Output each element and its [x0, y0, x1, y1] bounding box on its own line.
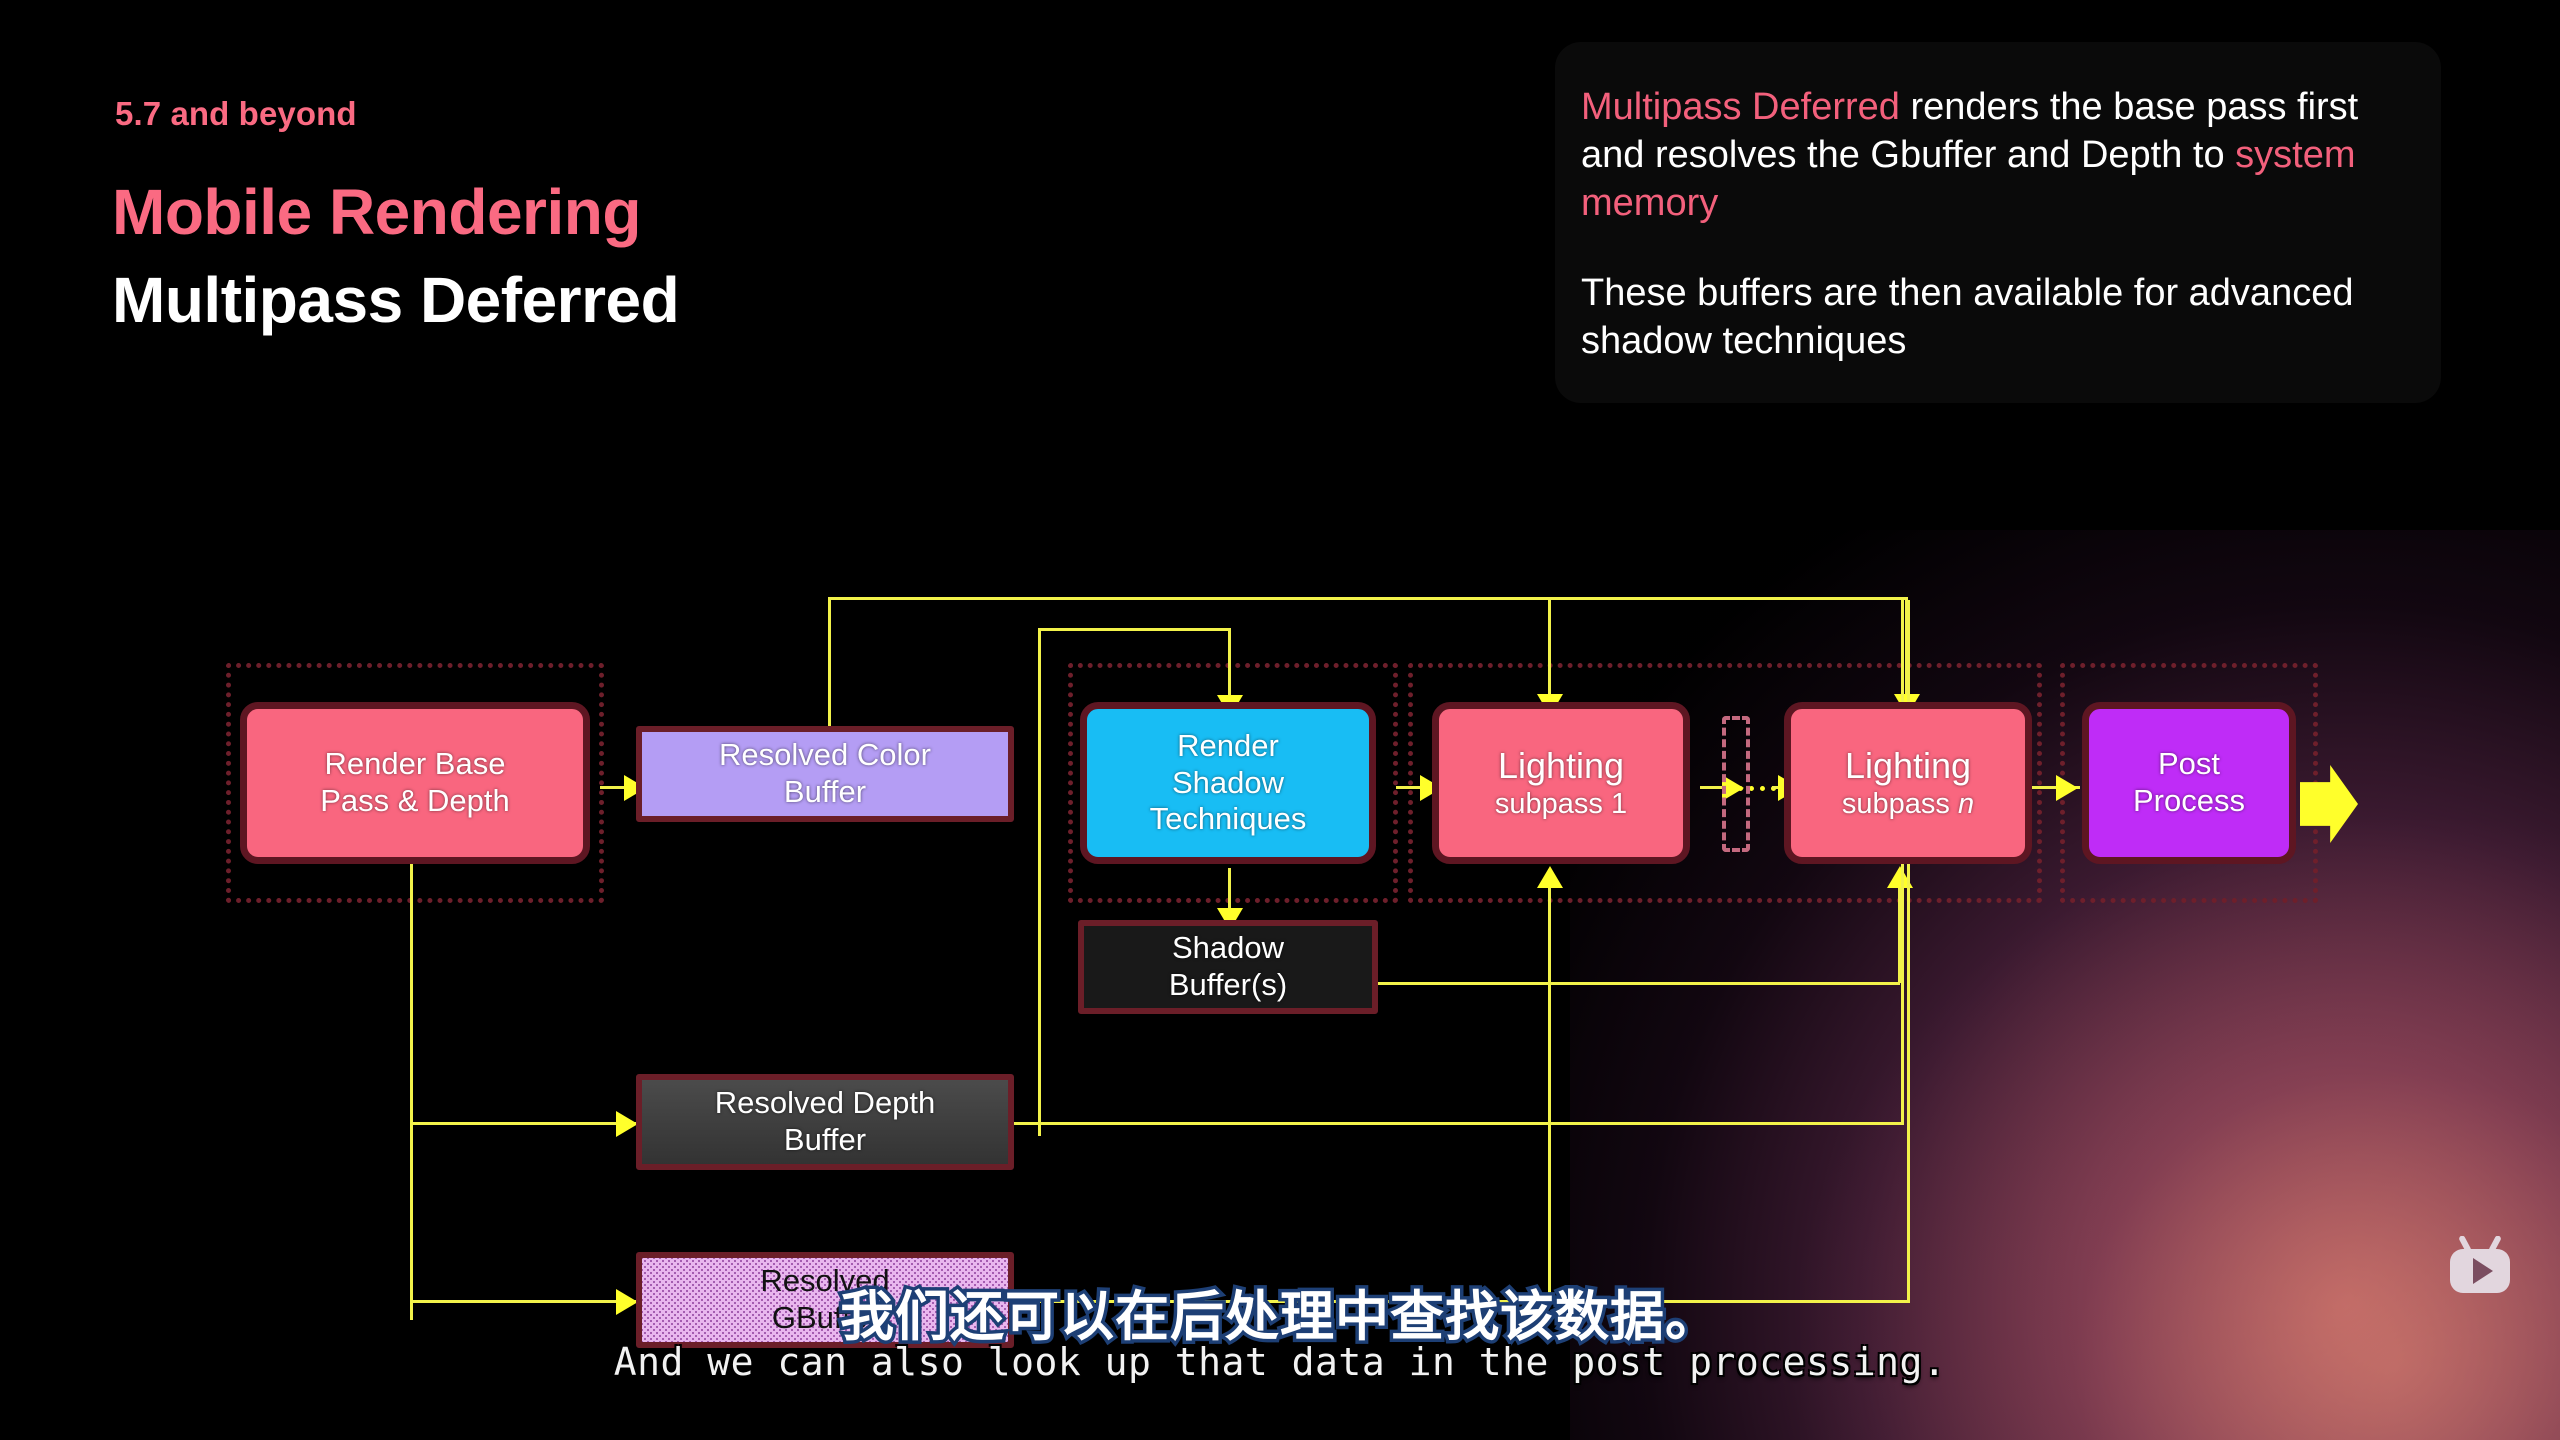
wire-basepass-down — [410, 864, 413, 1320]
wire-shadow-rail-left — [1038, 628, 1041, 1136]
slide-subtitle: Multipass Deferred — [112, 268, 679, 332]
pipeline-output-arrow-icon[interactable] — [2300, 765, 2358, 843]
arrowhead-ellipsis-in — [1722, 775, 1744, 801]
arrowhead-postprocess-in — [2056, 775, 2078, 801]
arrowhead-lightingn-bottom-in — [1887, 866, 1913, 888]
wire-mid-vertical — [1548, 982, 1551, 1302]
wire-to-depthbuffer — [410, 1122, 636, 1125]
node-label-line2: subpass n — [1842, 787, 1974, 821]
node-label-line1: Resolved Color — [719, 737, 931, 774]
node-label-line1: Lighting — [1495, 745, 1627, 787]
node-label-line1: Render — [1150, 728, 1307, 765]
callout-paragraph-2: These buffers are then available for adv… — [1581, 270, 2393, 366]
wire-basepass-to-colorbuffer — [600, 786, 636, 789]
callout-paragraph-1: Multipass Deferred renders the base pass… — [1581, 84, 2393, 228]
slide-eyebrow: 5.7 and beyond — [115, 95, 357, 133]
wire-lighting1-to-ellipsis — [1700, 786, 1730, 789]
callout-highlight-multipass: Multipass Deferred — [1581, 86, 1900, 128]
node-label-line2: Buffer — [719, 774, 931, 811]
node-label-line2: subpass 1 — [1495, 787, 1627, 821]
node-label-subpass-index: n — [1958, 788, 1974, 820]
node-label-line2: Buffer — [715, 1122, 936, 1159]
callout-panel: Multipass Deferred renders the base pass… — [1555, 42, 2441, 403]
node-lighting-subpass-placeholder — [1722, 716, 1750, 852]
slide-title: Mobile Rendering — [112, 180, 641, 244]
arrowhead-lighting1-bottom-in — [1537, 866, 1563, 888]
node-lighting-subpass-n[interactable]: Lighting subpass n — [1784, 702, 2032, 864]
node-render-shadow-techniques[interactable]: Render Shadow Techniques — [1080, 702, 1376, 864]
wire-shadowbuffer-up-ln — [1898, 869, 1901, 983]
node-post-process[interactable]: Post Process — [2082, 702, 2296, 864]
wire-lightingn-to-postprocess — [2032, 786, 2080, 789]
node-render-base-pass[interactable]: Render Base Pass & Depth — [240, 702, 590, 864]
wire-shadow-rail-down — [1228, 628, 1231, 706]
node-label-line2: Buffer(s) — [1169, 967, 1287, 1004]
wire-shadowbuffer-up-l1 — [1548, 869, 1551, 983]
node-label-line2: Process — [2133, 783, 2245, 820]
wire-shadowtech-to-shadowbuffer — [1228, 868, 1231, 920]
node-label-line1: Render Base — [320, 746, 510, 783]
tv-play-icon[interactable] — [2448, 1236, 2512, 1294]
wire-shadow-rail-top — [1038, 628, 1228, 631]
wire-colorbuffer-up — [828, 597, 831, 727]
wire-ellipsis-dots — [1738, 786, 1776, 791]
node-shadow-buffers[interactable]: Shadow Buffer(s) — [1078, 920, 1378, 1014]
node-label-line1: Post — [2133, 746, 2245, 783]
wire-shadowtech-to-lighting1 — [1396, 786, 1436, 789]
subtitle-english: And we can also look up that data in the… — [0, 1340, 2560, 1384]
wire-top-rail-1-down-lightingn — [1905, 597, 1908, 705]
node-label-subpass-word: subpass — [1842, 788, 1958, 820]
node-label-line1: Shadow — [1169, 930, 1287, 967]
node-lighting-subpass-1[interactable]: Lighting subpass 1 — [1432, 702, 1690, 864]
node-label-line3: Techniques — [1150, 801, 1307, 838]
node-resolved-color-buffer[interactable]: Resolved Color Buffer — [636, 726, 1014, 822]
wire-top-rail-1-down-lighting1 — [1548, 597, 1551, 705]
node-label-line1: Lighting — [1842, 745, 1974, 787]
wire-depthbuffer-out — [1014, 1122, 1904, 1125]
node-label-line2: Shadow — [1150, 765, 1307, 802]
node-resolved-depth-buffer[interactable]: Resolved Depth Buffer — [636, 1074, 1014, 1170]
arrowhead-depthbuffer-in — [616, 1111, 638, 1137]
wire-shadowbuffer-out — [1378, 982, 1900, 985]
node-label-line1: Resolved Depth — [715, 1085, 936, 1122]
wire-top-rail-1 — [828, 597, 1908, 600]
node-label-line2: Pass & Depth — [320, 783, 510, 820]
